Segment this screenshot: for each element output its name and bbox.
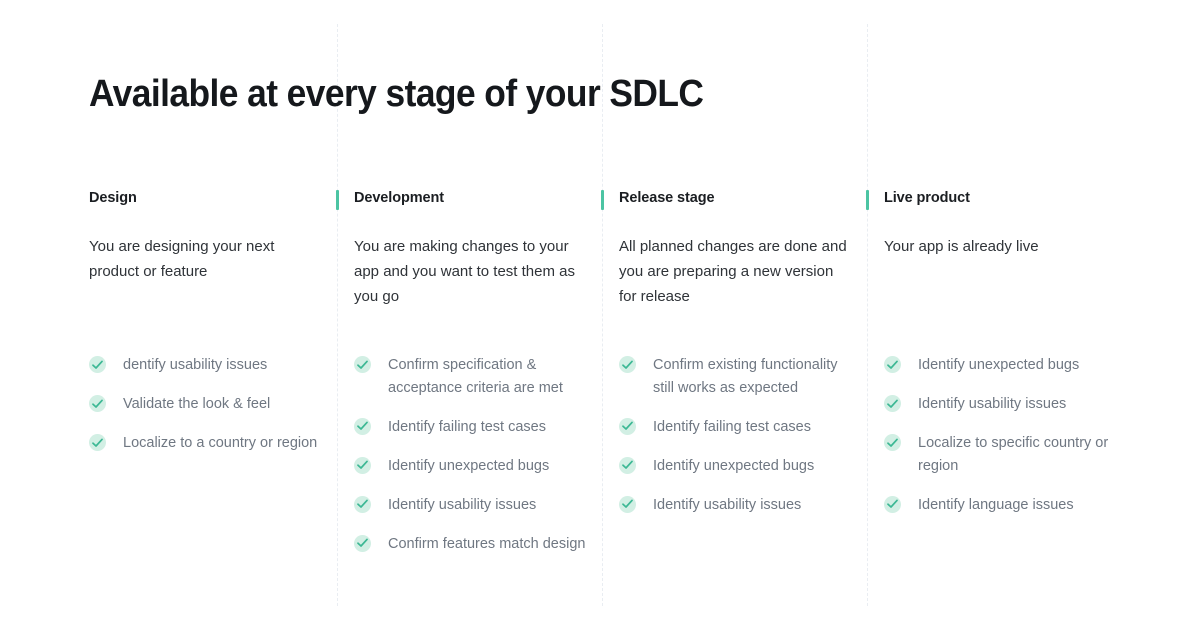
stage-column-live-product: Live product Your app is already live Id… [884,188,1114,259]
stage-column-development: Development You are making changes to yo… [354,188,584,309]
check-circle-icon [354,457,371,474]
check-circle-icon [89,395,106,412]
infographic-canvas: Available at every stage of your SDLC De… [0,0,1200,630]
check-circle-icon [354,535,371,552]
list-item: Localize to specific country or region [884,432,1124,477]
column-description: Your app is already live [884,234,1114,259]
list-item-label: Identify usability issues [388,497,536,513]
list-item-label: Localize to specific country or region [918,435,1108,474]
list-item-label: Identify language issues [918,497,1074,513]
stage-columns: Design You are designing your next produ… [0,0,1200,630]
list-item: Identify usability issues [619,494,859,517]
list-item: Confirm features match design [354,533,594,556]
list-item-label: Validate the look & feel [123,396,270,412]
list-item-label: Confirm specification & acceptance crite… [388,357,563,396]
check-circle-icon [354,496,371,513]
list-item: Identify unexpected bugs [619,455,859,478]
list-item: Identify failing test cases [354,416,594,439]
list-item: Identify usability issues [884,393,1124,416]
list-item-label: Confirm existing functionality still wor… [653,357,838,396]
check-circle-icon [619,457,636,474]
check-circle-icon [354,418,371,435]
column-checklist: dentify usability issues Validate the lo… [89,354,329,471]
check-circle-icon [89,356,106,373]
check-circle-icon [884,356,901,373]
check-circle-icon [89,434,106,451]
list-item-label: Identify unexpected bugs [388,458,549,474]
list-item-label: Identify failing test cases [653,419,811,435]
list-item-label: Localize to a country or region [123,435,317,451]
stage-column-design: Design You are designing your next produ… [89,188,319,284]
list-item: Localize to a country or region [89,432,329,455]
list-item: Confirm specification & acceptance crite… [354,354,594,399]
list-item-label: Identify unexpected bugs [918,357,1079,373]
check-circle-icon [884,434,901,451]
list-item-label: dentify usability issues [123,357,267,373]
list-item: Identify unexpected bugs [884,354,1124,377]
list-item-label: Confirm features match design [388,536,585,552]
column-heading: Release stage [619,188,849,208]
check-circle-icon [619,496,636,513]
column-checklist: Confirm existing functionality still wor… [619,354,859,533]
list-item: Confirm existing functionality still wor… [619,354,859,399]
list-item: dentify usability issues [89,354,329,377]
column-description: You are designing your next product or f… [89,234,319,284]
column-description: All planned changes are done and you are… [619,234,849,309]
check-circle-icon [619,418,636,435]
list-item: Identify unexpected bugs [354,455,594,478]
list-item-label: Identify unexpected bugs [653,458,814,474]
column-heading: Live product [884,188,1114,208]
list-item: Identify usability issues [354,494,594,517]
check-circle-icon [619,356,636,373]
column-description: You are making changes to your app and y… [354,234,584,309]
list-item: Identify language issues [884,494,1124,517]
list-item-label: Identify usability issues [918,396,1066,412]
column-heading: Design [89,188,319,208]
list-item-label: Identify failing test cases [388,419,546,435]
check-circle-icon [884,496,901,513]
check-circle-icon [354,356,371,373]
list-item-label: Identify usability issues [653,497,801,513]
stage-column-release-stage: Release stage All planned changes are do… [619,188,849,309]
column-heading: Development [354,188,584,208]
column-checklist: Identify unexpected bugs Identify usabil… [884,354,1124,533]
column-checklist: Confirm specification & acceptance crite… [354,354,594,572]
check-circle-icon [884,395,901,412]
list-item: Identify failing test cases [619,416,859,439]
list-item: Validate the look & feel [89,393,329,416]
